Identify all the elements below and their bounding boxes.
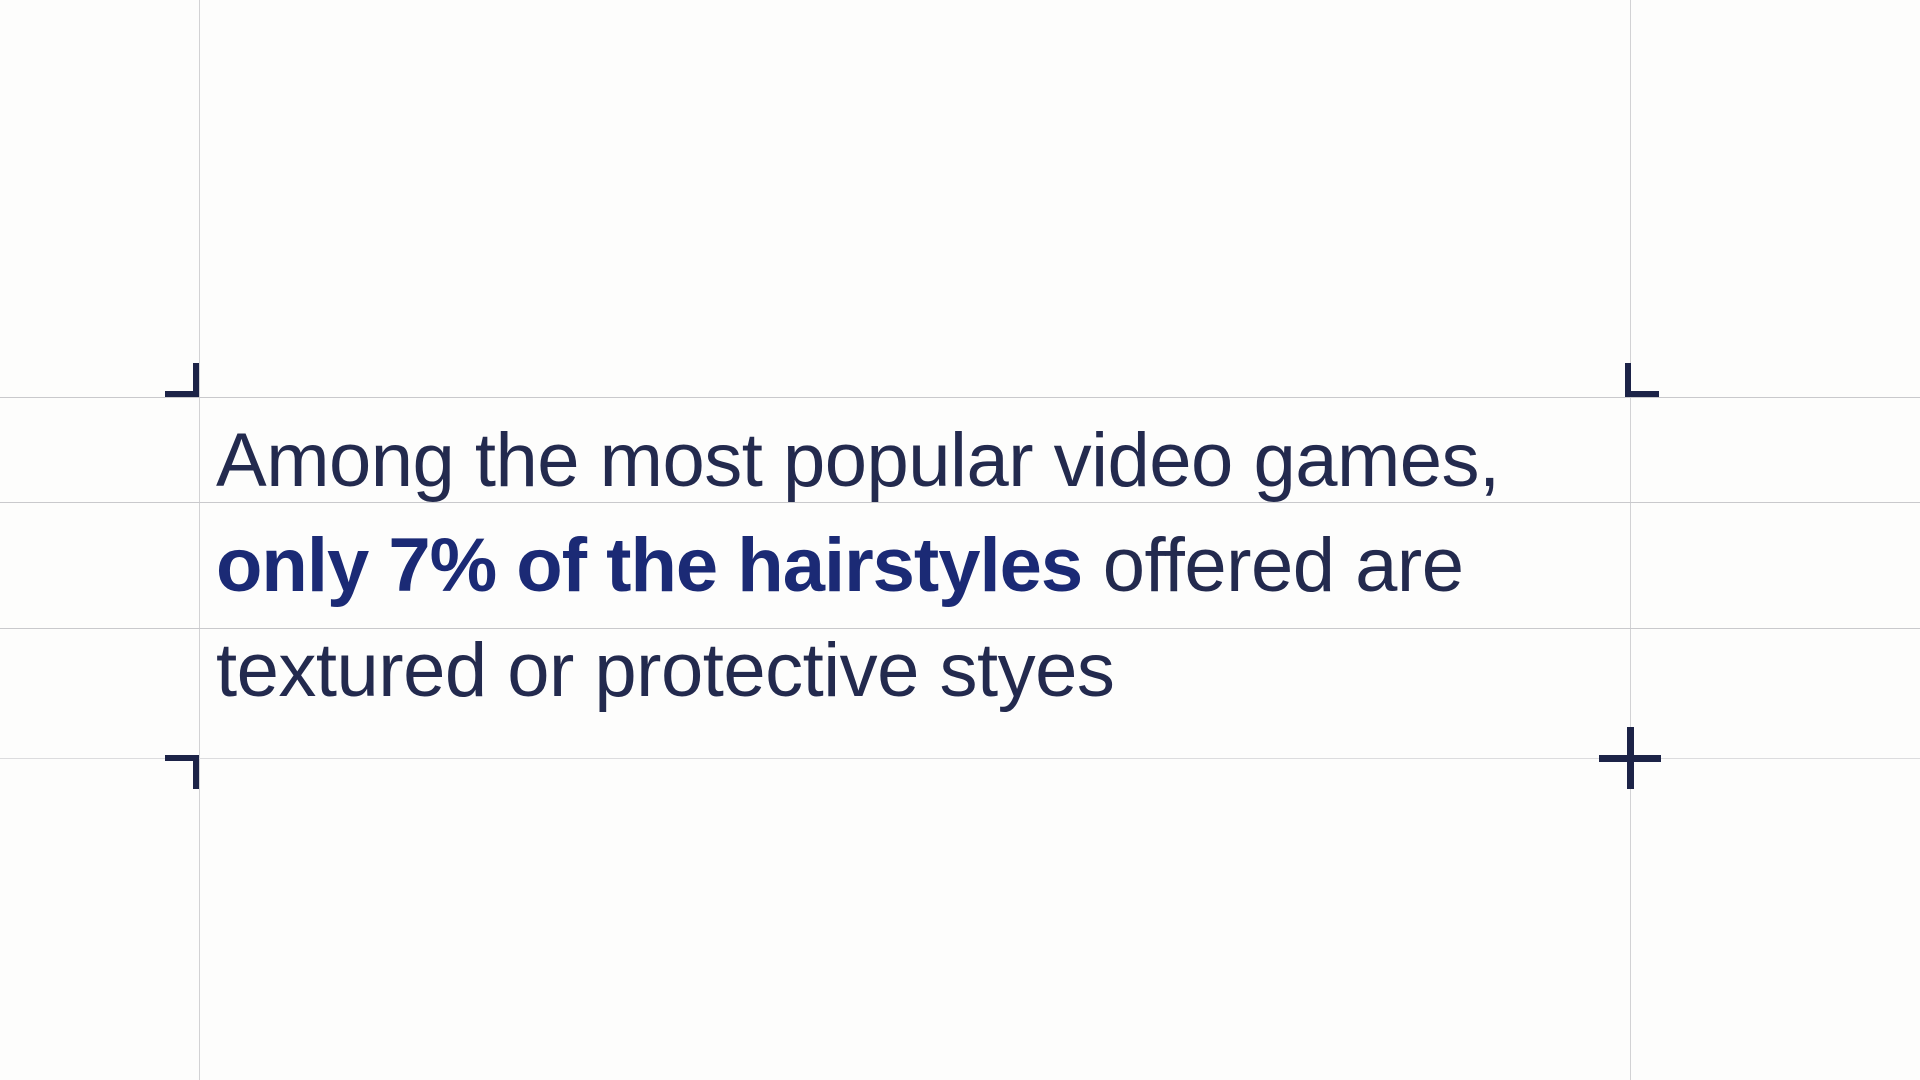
headline-statistic-highlight: only 7% of the hairstyles xyxy=(216,523,1082,608)
guide-horizontal-1 xyxy=(0,397,1920,398)
headline-line-2-tail: offered are xyxy=(1082,523,1463,608)
headline-line-3-text: textured or protective styes xyxy=(216,628,1114,713)
headline-line-1: Among the most popular video games, xyxy=(216,409,1500,513)
guide-horizontal-4 xyxy=(0,758,1920,759)
slide-canvas: Among the most popular video games, only… xyxy=(0,0,1920,1080)
guide-vertical-right xyxy=(1630,0,1631,1080)
headline-line-3: textured or protective styes xyxy=(216,619,1114,723)
headline-line-1-text: Among the most popular video games, xyxy=(216,418,1500,503)
headline-line-2: only 7% of the hairstyles offered are xyxy=(216,514,1463,618)
guide-vertical-left xyxy=(199,0,200,1080)
